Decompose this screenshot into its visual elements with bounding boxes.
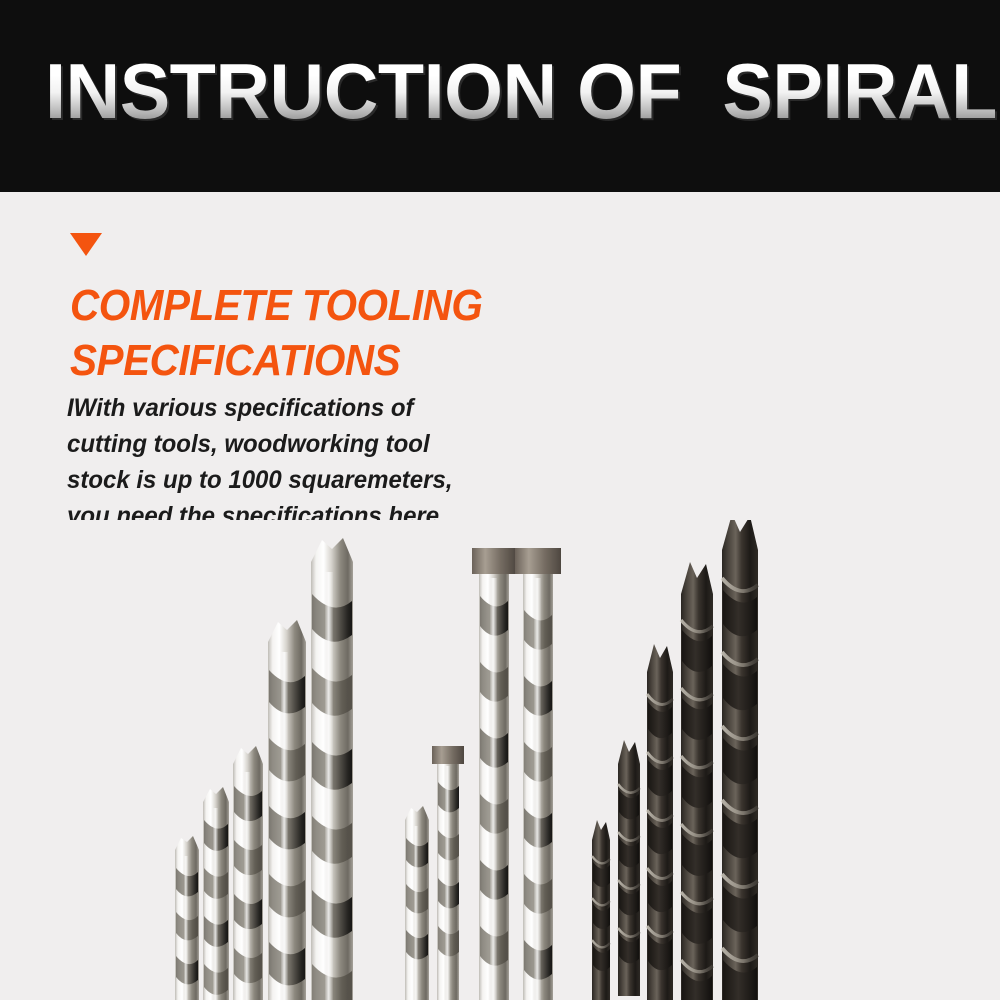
drill-bit-middle-4 [515, 548, 561, 1000]
drill-bit-left-3 [233, 746, 263, 1000]
header-band: INSTRUCTION OF SPIRAL DRILL BIT INSTRUCT… [0, 0, 1000, 192]
drill-bit-left-4 [268, 620, 306, 1000]
section-heading: COMPLETE TOOLING SPECIFICATIONS [70, 278, 548, 388]
drill-bit-right-5 [722, 520, 758, 1000]
drill-bit-middle-1 [405, 806, 429, 1000]
drill-bits-illustration [0, 520, 1000, 1000]
drill-bit-middle-3 [472, 548, 516, 1000]
drill-bit-right-3 [647, 644, 673, 1000]
down-triangle-icon [70, 233, 102, 256]
product-info-page: INSTRUCTION OF SPIRAL DRILL BIT INSTRUCT… [0, 0, 1000, 1000]
section-body-text: IWith various specifications of cutting … [67, 390, 480, 534]
drill-bit-right-2 [618, 740, 640, 996]
drill-bit-right-4 [681, 562, 713, 1000]
drill-bit-left-1 [175, 836, 199, 1000]
page-title: INSTRUCTION OF SPIRAL DRILL BIT [45, 52, 1000, 130]
drill-bit-left-2 [203, 787, 229, 1000]
product-photo [0, 520, 1000, 1000]
drill-bit-right-1 [592, 820, 610, 1000]
drill-bit-middle-2 [432, 746, 464, 1000]
drill-bit-left-5 [311, 538, 353, 1000]
